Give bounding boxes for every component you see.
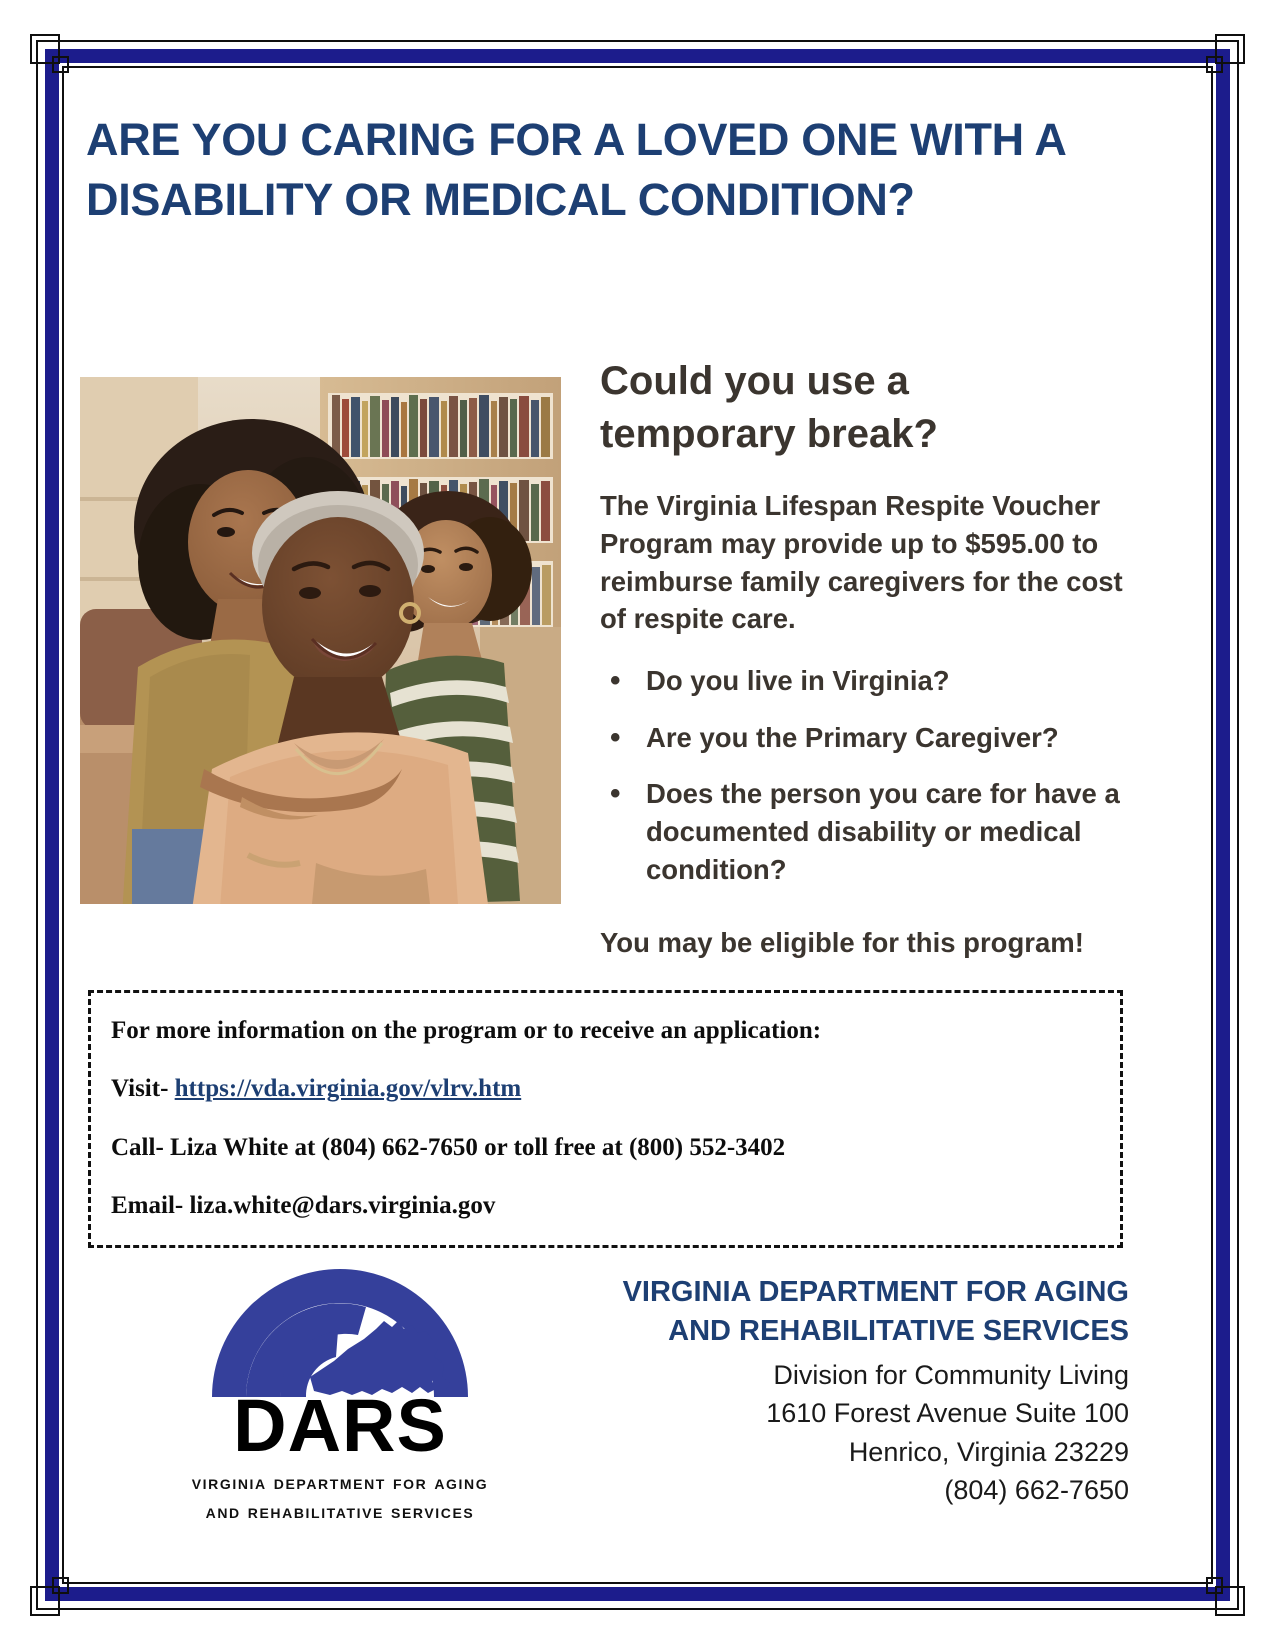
text-column: Could you use atemporary break? The Virg…: [564, 355, 1135, 962]
agency-city-state-zip: Henrico, Virginia 23229: [600, 1433, 1129, 1471]
agency-name-line-2: AND REHABILITATIVE SERVICES: [668, 1315, 1129, 1347]
photo-column: [80, 355, 564, 904]
dars-tagline: Virginia Department for Agingand Rehabil…: [140, 1469, 540, 1526]
dars-logo: DARS Virginia Department for Agingand Re…: [140, 1265, 540, 1526]
list-item: Do you live in Virginia?: [600, 662, 1135, 700]
logo-column: DARS Virginia Department for Agingand Re…: [80, 1255, 600, 1526]
main-columns: Could you use atemporary break? The Virg…: [80, 355, 1135, 962]
subhead-line-1: Could you use a: [600, 359, 909, 403]
contact-heading: For more information on the program or t…: [111, 1015, 1100, 1046]
list-item: Are you the Primary Caregiver?: [600, 719, 1135, 757]
dars-tagline-line-1: Virginia Department for Aging: [192, 1472, 489, 1494]
agency-division: Division for Community Living: [600, 1356, 1129, 1394]
list-item: Does the person you care for have a docu…: [600, 775, 1135, 888]
agency-phone: (804) 662-7650: [600, 1471, 1129, 1509]
corner-knot-bottom-left-icon: [30, 1570, 76, 1616]
corner-knot-top-left-icon: [30, 34, 76, 80]
agency-street: 1610 Forest Avenue Suite 100: [600, 1394, 1129, 1432]
contact-call-line: Call- Liza White at (804) 662-7650 or to…: [111, 1132, 1100, 1163]
dars-wordmark: DARS: [140, 1391, 540, 1461]
contact-information-box: For more information on the program or t…: [88, 990, 1123, 1248]
dars-tagline-line-2: and Rehabilitative Services: [206, 1501, 475, 1523]
program-website-link[interactable]: https://vda.virginia.gov/vlrv.htm: [175, 1075, 522, 1102]
agency-address-block: VIRGINIA DEPARTMENT FOR AGINGAND REHABIL…: [600, 1255, 1135, 1509]
headline-line-1: ARE YOU CARING FOR A LOVED ONE WITH: [86, 114, 1024, 165]
family-photo: [80, 377, 561, 904]
visit-label: Visit-: [111, 1075, 168, 1102]
agency-name-line-1: VIRGINIA DEPARTMENT FOR AGING: [623, 1276, 1129, 1308]
section-subheading: Could you use atemporary break?: [600, 355, 1135, 461]
contact-visit-line: Visit- https://vda.virginia.gov/vlrv.htm: [111, 1073, 1100, 1104]
flyer-content: ARE YOU CARING FOR A LOVED ONE WITH A DI…: [80, 110, 1135, 1530]
eligibility-question-list: Do you live in Virginia? Are you the Pri…: [600, 662, 1135, 888]
corner-knot-bottom-right-icon: [1199, 1570, 1245, 1616]
subhead-line-2: temporary break?: [600, 412, 938, 456]
flyer-page: ARE YOU CARING FOR A LOVED ONE WITH A DI…: [0, 0, 1275, 1650]
program-description: The Virginia Lifespan Respite Voucher Pr…: [600, 487, 1135, 638]
contact-email-line: Email- liza.white@dars.virginia.gov: [111, 1190, 1100, 1221]
dars-arch-icon: [206, 1265, 474, 1397]
flyer-footer: DARS Virginia Department for Agingand Re…: [80, 1255, 1135, 1526]
agency-name: VIRGINIA DEPARTMENT FOR AGINGAND REHABIL…: [600, 1273, 1129, 1350]
corner-knot-top-right-icon: [1199, 34, 1245, 80]
page-title: ARE YOU CARING FOR A LOVED ONE WITH A DI…: [80, 110, 1131, 230]
eligibility-note: You may be eligible for this program!: [600, 924, 1135, 962]
